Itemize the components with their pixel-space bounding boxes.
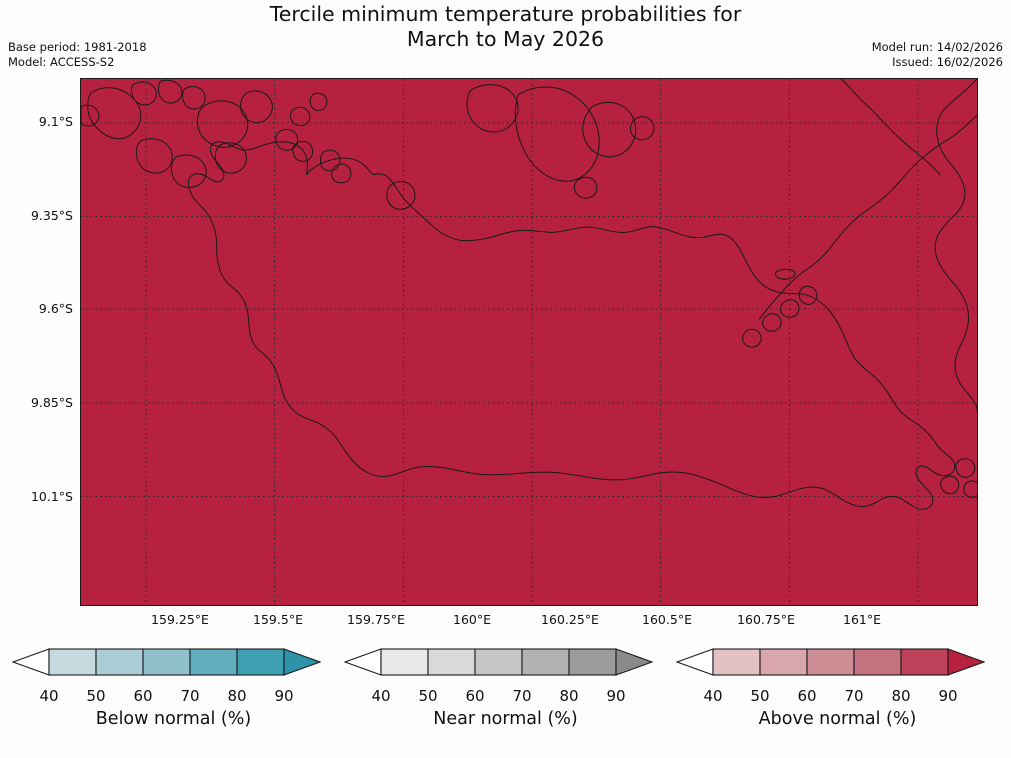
title-line-2: March to May 2026	[0, 27, 1011, 52]
x-tick-label-4: 160.25°E	[541, 612, 599, 627]
metadata-left: Base period: 1981-2018 Model: ACCESS-S2	[8, 40, 147, 69]
title-line-1: Tercile minimum temperature probabilitie…	[270, 2, 742, 26]
cbar2-tick-1: 50	[750, 687, 769, 705]
coastline-reef-islet-1	[762, 314, 781, 332]
cbar1-under-arrow	[345, 649, 381, 675]
cbar0-tick-2: 60	[133, 687, 152, 705]
colorbar-above-normal-title: Above normal (%)	[669, 709, 1006, 729]
coastline-russell-west-arm	[81, 105, 99, 126]
y-tick-label-3: 9.85°S	[0, 395, 73, 410]
cbar2-segment-2	[807, 649, 854, 675]
y-tick-label-0: 9.1°S	[0, 114, 73, 129]
cbar1-tick-0: 40	[371, 687, 390, 705]
coastline-nggela-east	[583, 102, 636, 156]
cbar2-over-arrow	[948, 649, 984, 675]
x-tick-label-1: 159.5°E	[253, 612, 303, 627]
coastline-paths	[81, 79, 977, 509]
coastline-islet-d	[241, 91, 273, 123]
coastline-reef-islet-4	[743, 329, 762, 347]
cbar0-tick-4: 80	[227, 687, 246, 705]
cbar1-segment-1	[428, 649, 475, 675]
cbar1-tick-3: 70	[512, 687, 531, 705]
cbar0-segment-0	[49, 649, 96, 675]
coastline-malaita-northwest	[841, 79, 940, 175]
cbar2-segment-3	[854, 649, 901, 675]
coastline-nggela-main	[515, 87, 599, 181]
base-period-text: Base period: 1981-2018	[8, 40, 147, 55]
colorbar-above-normal[interactable]: 40 50 60 70 80 90 Above normal (%)	[669, 645, 1006, 755]
colorbar-near-normal-title: Near normal (%)	[337, 709, 674, 729]
cbar2-tick-2: 60	[797, 687, 816, 705]
coastline-nggela-islet-1	[631, 117, 654, 140]
cbar2-tick-0: 40	[703, 687, 722, 705]
cbar0-tick-0: 40	[39, 687, 58, 705]
colorbar-near-normal-ticks: 40 50 60 70 80 90	[337, 687, 674, 707]
model-text: Model: ACCESS-S2	[8, 55, 147, 70]
coastline-russell-islet-c	[183, 87, 206, 110]
cbar2-segment-0	[713, 649, 760, 675]
x-tick-label-2: 159.75°E	[347, 612, 405, 627]
cbar0-tick-1: 50	[86, 687, 105, 705]
coastline-small-islet-north	[775, 269, 794, 279]
coastline-islet-j	[293, 141, 313, 161]
coastline-nggela-west	[467, 85, 518, 132]
x-tick-label-5: 160.5°E	[642, 612, 692, 627]
cbar1-tick-1: 50	[418, 687, 437, 705]
cbar2-tick-5: 90	[938, 687, 957, 705]
coastline-islet-m	[331, 164, 350, 183]
coastline-marau-islet-2	[941, 476, 959, 494]
colorbar-above-normal-swatches	[669, 645, 1006, 687]
coastline-marau-islet-3	[964, 481, 977, 498]
y-tick-label-1: 9.35°S	[0, 208, 73, 223]
cbar1-over-arrow	[616, 649, 652, 675]
coastline-russell-islet-b	[158, 80, 181, 103]
cbar0-under-arrow	[13, 649, 49, 675]
cbar1-tick-5: 90	[606, 687, 625, 705]
x-tick-label-3: 160°E	[453, 612, 491, 627]
x-tick-label-7: 161°E	[843, 612, 881, 627]
page-title: Tercile minimum temperature probabilitie…	[0, 2, 1011, 52]
x-tick-label-6: 160.75°E	[737, 612, 795, 627]
map-panel[interactable]: © Commonwealth of Australia 2026, Bureau…	[80, 78, 978, 606]
cbar2-under-arrow	[677, 649, 713, 675]
cbar1-segment-3	[522, 649, 569, 675]
cbar1-segment-4	[569, 649, 616, 675]
cbar2-segment-1	[760, 649, 807, 675]
cbar0-tick-3: 70	[180, 687, 199, 705]
colorbar-below-normal-title: Below normal (%)	[5, 709, 342, 729]
colorbar-above-normal-ticks: 40 50 60 70 80 90	[669, 687, 1006, 707]
colorbar-near-normal-swatches	[337, 645, 674, 687]
cbar1-segment-0	[381, 649, 428, 675]
cbar1-segment-2	[475, 649, 522, 675]
y-tick-label-4: 10.1°S	[0, 489, 73, 504]
cbar0-segment-1	[96, 649, 143, 675]
colorbar-below-normal-ticks: 40 50 60 70 80 90	[5, 687, 342, 707]
cbar0-tick-5: 90	[274, 687, 293, 705]
coastline-islet-i	[276, 129, 298, 150]
cbar0-segment-3	[190, 649, 237, 675]
cbar0-segment-2	[143, 649, 190, 675]
coastline-russell-main	[88, 88, 141, 139]
map-vector-layer	[81, 79, 977, 605]
cbar0-over-arrow	[284, 649, 320, 675]
model-run-text: Model run: 14/02/2026	[872, 40, 1003, 55]
metadata-right: Model run: 14/02/2026 Issued: 16/02/2026	[872, 40, 1003, 69]
coastline-islet-f	[136, 139, 172, 173]
coastline-islet-k	[310, 93, 327, 110]
cbar2-segment-4	[901, 649, 948, 675]
cbar1-tick-2: 60	[465, 687, 484, 705]
coastline-guadalcanal	[188, 142, 954, 509]
cbar1-tick-4: 80	[559, 687, 578, 705]
cbar0-segment-4	[237, 649, 284, 675]
coastline-russell-islet-a	[132, 82, 157, 105]
coastline-marau-islet-1	[956, 459, 975, 477]
y-tick-label-2: 9.6°S	[0, 301, 73, 316]
cbar2-tick-3: 70	[844, 687, 863, 705]
x-tick-label-0: 159.25°E	[151, 612, 209, 627]
coastline-nggela-islet-2	[574, 177, 597, 198]
coastline-malaita	[935, 79, 977, 410]
coastline-islet-h	[291, 107, 310, 125]
cbar2-tick-4: 80	[891, 687, 910, 705]
colorbar-below-normal[interactable]: 40 50 60 70 80 90 Below normal (%)	[5, 645, 342, 755]
colorbar-below-normal-swatches	[5, 645, 342, 687]
issued-text: Issued: 16/02/2026	[872, 55, 1003, 70]
colorbar-near-normal[interactable]: 40 50 60 70 80 90 Near normal (%)	[337, 645, 674, 755]
